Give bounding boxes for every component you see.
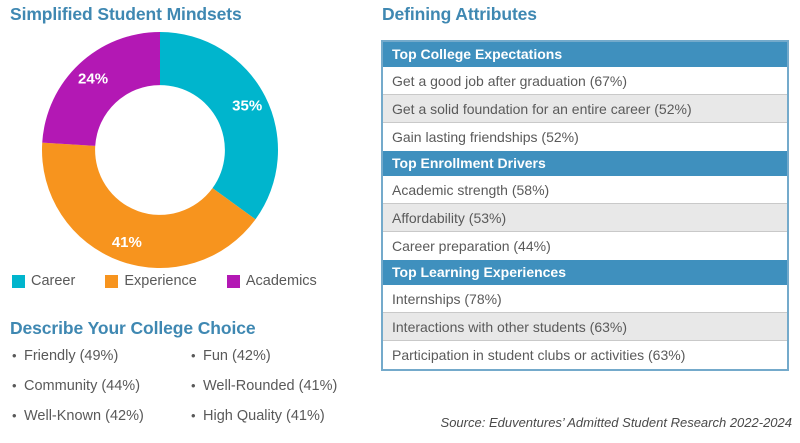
source-note: Source: Eduventures’ Admitted Student Re… [441,415,792,430]
table-row: Internships (78%) [383,285,787,313]
mindsets-panel: Simplified Student Mindsets 35%41%24% Ca… [0,0,372,443]
defining-attributes-table: Top College ExpectationsGet a good job a… [381,40,789,371]
table-row: Participation in student clubs or activi… [383,341,787,369]
list-item-label: Community (44%) [24,378,140,394]
table-row: Gain lasting friendships (52%) [383,123,787,151]
legend-item-career[interactable]: Career [12,274,75,289]
donut-value-label-experience: 41% [112,234,142,251]
bullet-dot-icon: • [191,379,203,392]
table-group-header: Top Enrollment Drivers [383,151,787,176]
table-row: Career preparation (44%) [383,232,787,260]
describe-college-choice-lists: •Friendly (49%)•Community (44%)•Well-Kno… [12,348,370,438]
bullet-dot-icon: • [191,409,203,422]
donut-slice-career[interactable] [160,32,278,219]
page-title-mindsets: Simplified Student Mindsets [10,6,242,24]
donut-chart-svg: 35%41%24% [36,30,284,270]
bullet-dot-icon: • [12,349,24,362]
table-row: Get a solid foundation for an entire car… [383,95,787,123]
chart-legend: CareerExperienceAcademics [12,270,362,292]
list-item-label: Well-Rounded (41%) [203,378,337,394]
donut-value-label-career: 35% [232,98,262,115]
donut-slice-experience[interactable] [42,143,255,268]
table-group-header: Top College Expectations [383,42,787,67]
legend-label-experience: Experience [124,274,197,289]
section-title-defining-attributes: Defining Attributes [382,6,537,24]
list-item: •Friendly (49%) [12,348,191,378]
legend-label-academics: Academics [246,274,317,289]
bullet-dot-icon: • [12,409,24,422]
bullet-dot-icon: • [12,379,24,392]
table-row: Affordability (53%) [383,204,787,232]
legend-swatch-experience [105,275,118,288]
describe-bullet-column-2: •Fun (42%)•Well-Rounded (41%)•High Quali… [191,348,370,438]
table-group-header: Top Learning Experiences [383,260,787,285]
list-item-label: Friendly (49%) [24,348,118,364]
table-row: Academic strength (58%) [383,176,787,204]
donut-slice-academics[interactable] [42,32,160,146]
table-row: Get a good job after graduation (67%) [383,67,787,95]
section-title-describe-college-choice: Describe Your College Choice [10,320,256,338]
table-row: Interactions with other students (63%) [383,313,787,341]
list-item: •Well-Known (42%) [12,408,191,438]
list-item: •Community (44%) [12,378,191,408]
legend-item-experience[interactable]: Experience [105,274,197,289]
donut-value-label-academics: 24% [78,71,108,88]
donut-slice-group [42,32,278,268]
defining-attributes-panel: Defining Attributes Top College Expectat… [378,0,800,443]
list-item-label: Well-Known (42%) [24,408,144,424]
legend-swatch-career [12,275,25,288]
legend-label-career: Career [31,274,75,289]
bullet-dot-icon: • [191,349,203,362]
list-item: •Well-Rounded (41%) [191,378,370,408]
legend-item-academics[interactable]: Academics [227,274,317,289]
list-item-label: High Quality (41%) [203,408,325,424]
describe-bullet-column-1: •Friendly (49%)•Community (44%)•Well-Kno… [12,348,191,438]
legend-swatch-academics [227,275,240,288]
list-item-label: Fun (42%) [203,348,271,364]
list-item: •Fun (42%) [191,348,370,378]
mindsets-donut-chart: 35%41%24% [36,30,284,270]
list-item: •High Quality (41%) [191,408,370,438]
